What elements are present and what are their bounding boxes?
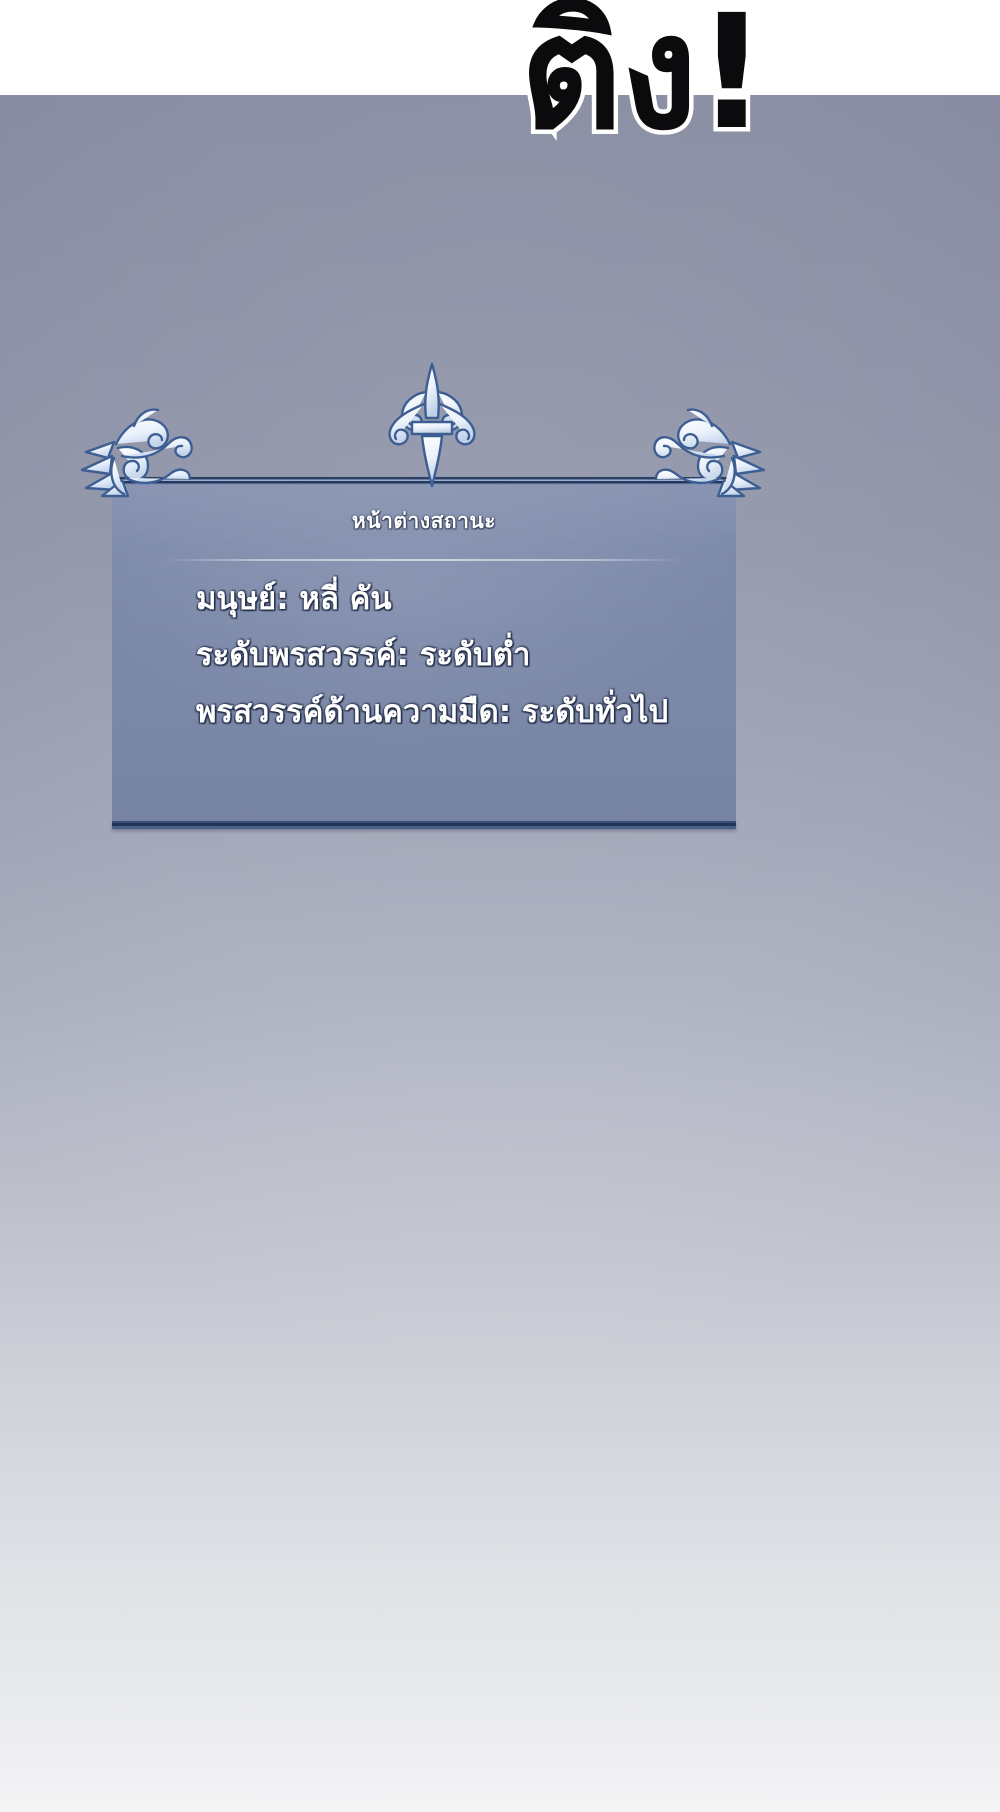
status-window-bottom-border xyxy=(112,821,736,829)
status-line-human: มนุษย์: หลี่ คัน xyxy=(196,571,716,627)
comic-panel-page: ติง! หน้าต่างสถานะ มนุษย์: หลี่ คัน ระดั… xyxy=(0,0,1000,1812)
status-window-title-divider xyxy=(164,559,684,561)
status-window-title: หน้าต่างสถานะ xyxy=(112,505,736,538)
status-window-top-border xyxy=(112,477,736,485)
panel-gutter-top xyxy=(0,0,1000,95)
status-window-stats: มนุษย์: หลี่ คัน ระดับพรสวรรค์: ระดับต่ำ… xyxy=(196,571,716,740)
status-line-talent-level: ระดับพรสวรรค์: ระดับต่ำ xyxy=(196,627,716,683)
status-window: หน้าต่างสถานะ มนุษย์: หลี่ คัน ระดับพรสว… xyxy=(112,477,736,829)
status-line-dark-talent: พรสวรรค์ด้านความมืด: ระดับทั่วไป xyxy=(196,684,716,740)
scene-background xyxy=(0,95,1000,1812)
